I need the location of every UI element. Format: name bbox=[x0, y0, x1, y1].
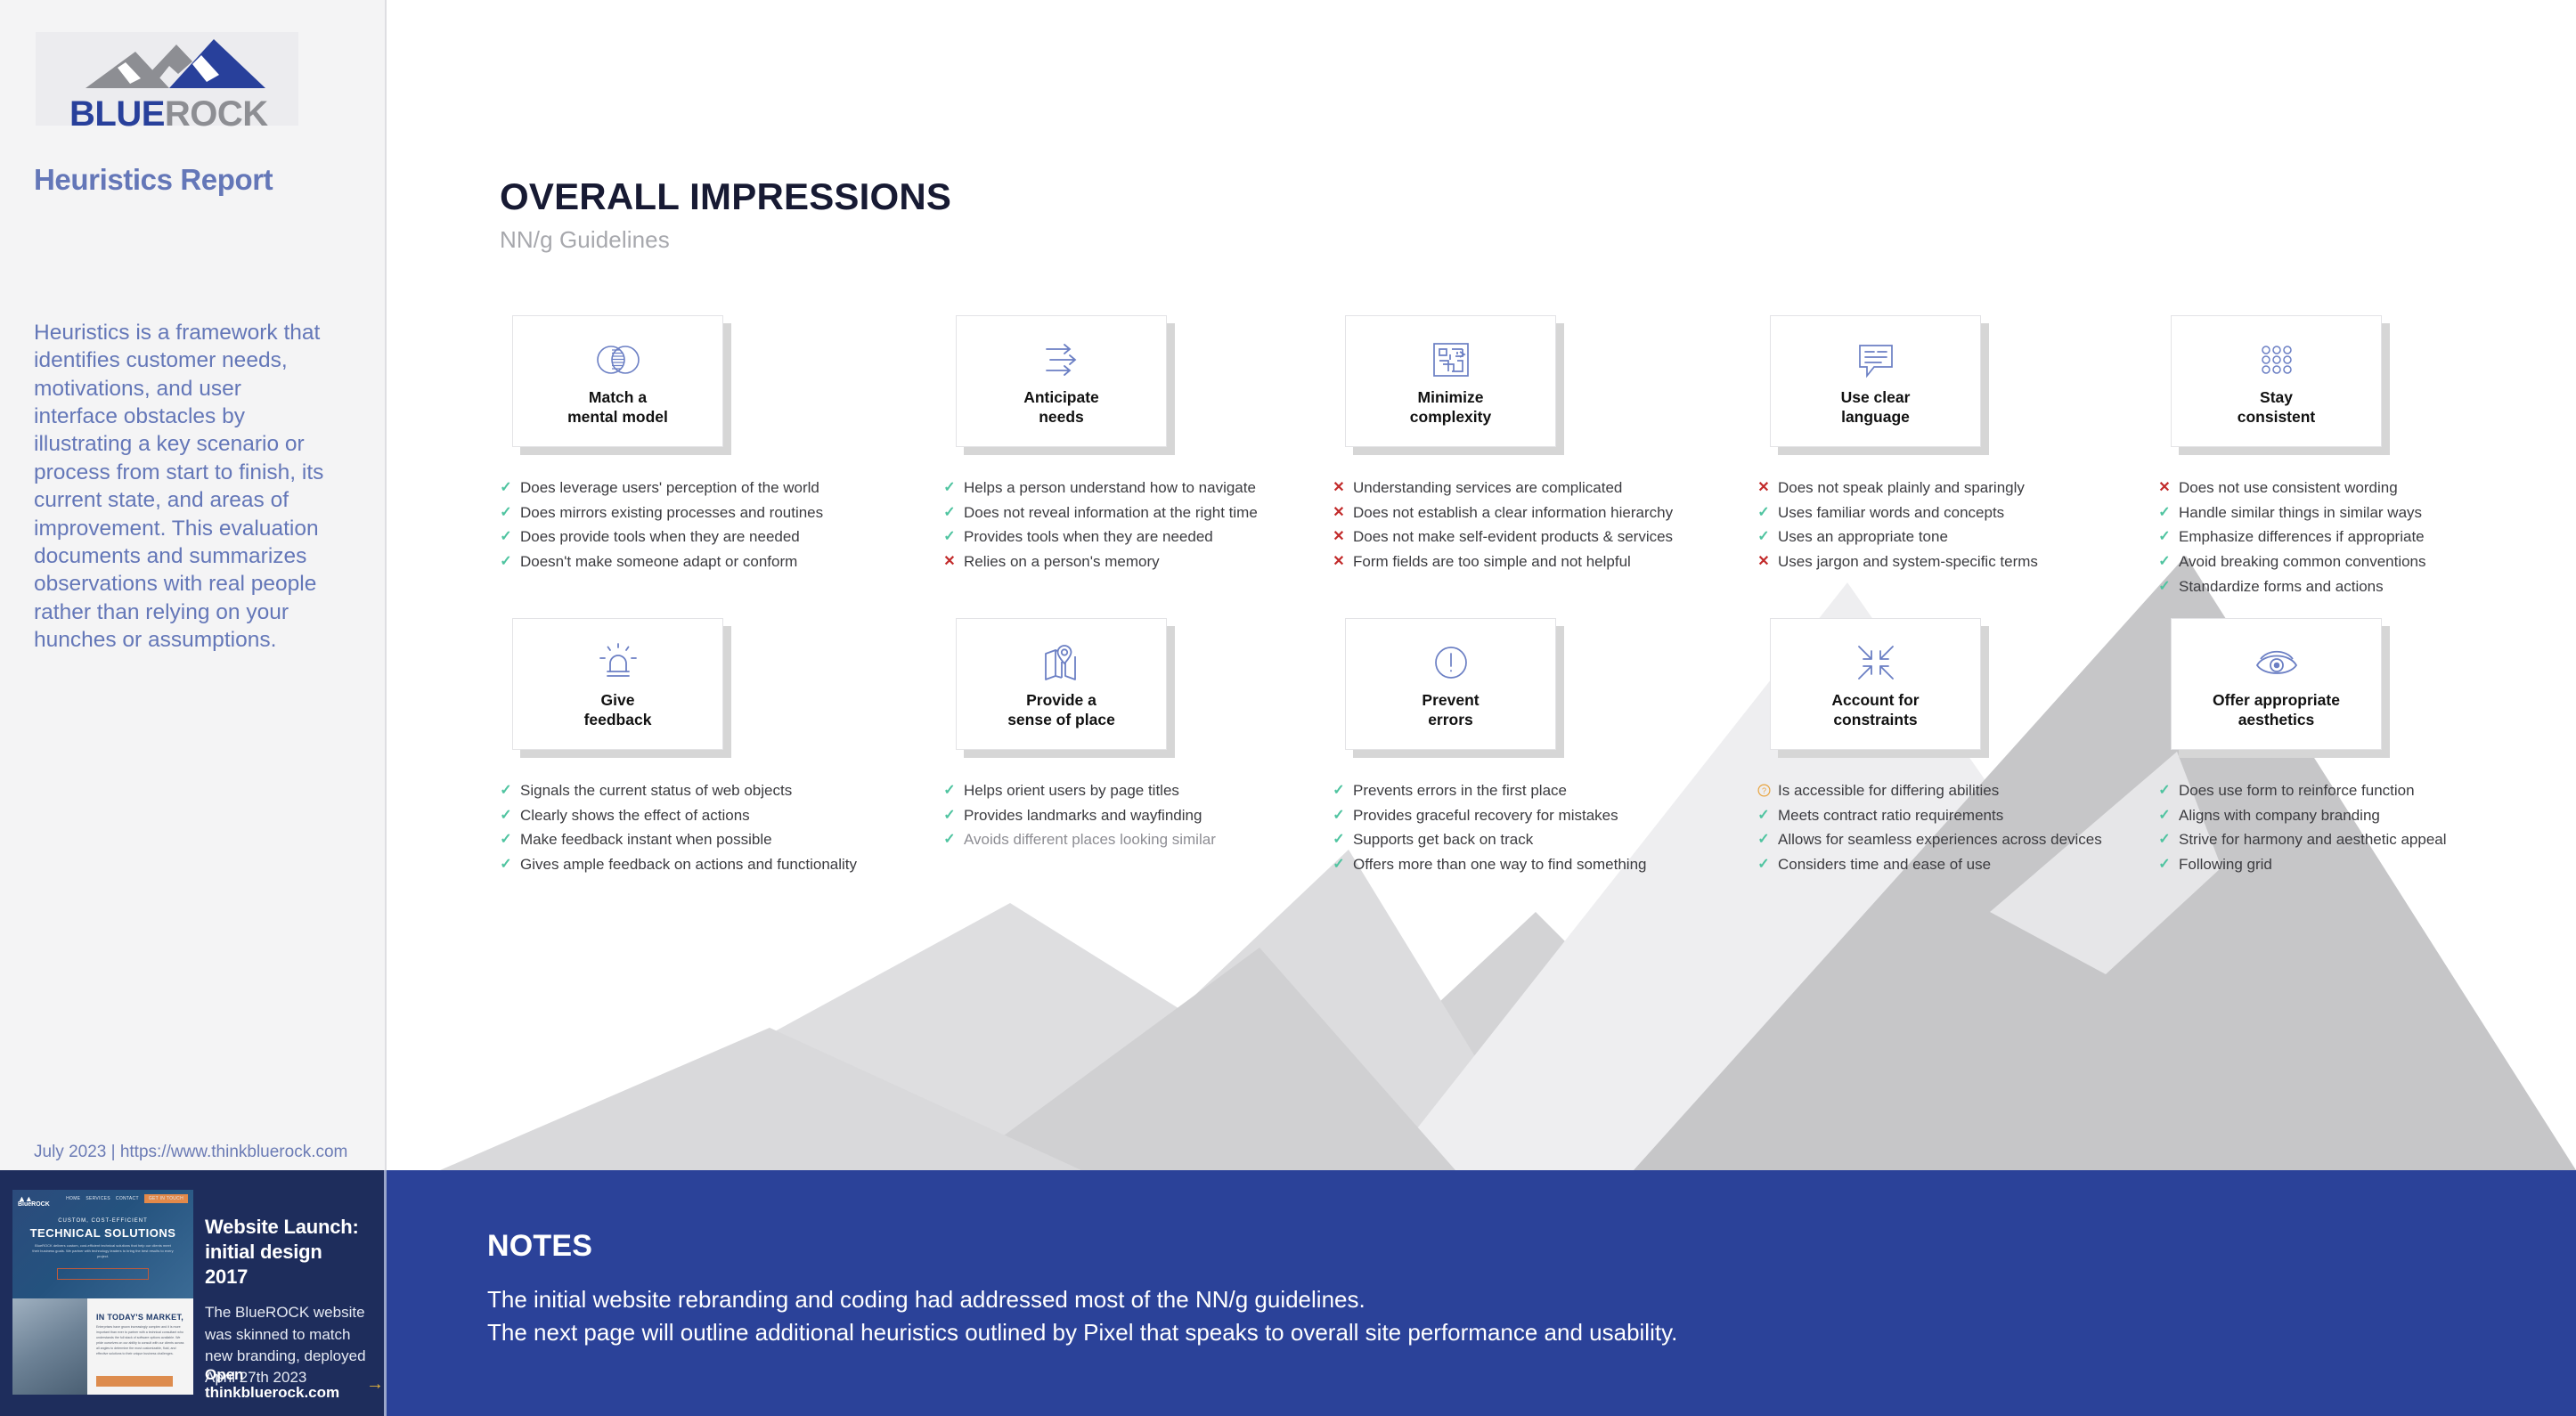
bullet-text: Allows for seamless experiences across d… bbox=[1778, 829, 2102, 851]
bullet-text: Helps orient users by page titles bbox=[964, 780, 1179, 802]
bullet-text: Does mirrors existing processes and rout… bbox=[520, 502, 823, 525]
check-icon: ✓ bbox=[943, 526, 956, 547]
card-bullet-list: ✕Does not use consistent wording✓Handle … bbox=[2158, 477, 2576, 600]
check-icon: ✓ bbox=[1757, 502, 1770, 523]
bullet-item: ✓Provides landmarks and wayfinding bbox=[943, 805, 1362, 827]
card-bullet-list: ✓Does use form to reinforce function✓Ali… bbox=[2158, 780, 2576, 879]
bullet-text: Avoid breaking common conventions bbox=[2179, 551, 2426, 574]
card-bullet-list: ✓Does leverage users' perception of the … bbox=[500, 477, 918, 576]
bullet-item: ✓Clearly shows the effect of actions bbox=[500, 805, 918, 827]
card-label: Minimizecomplexity bbox=[1410, 387, 1491, 427]
check-icon: ✓ bbox=[1333, 854, 1345, 875]
bullet-item: ✓Helps orient users by page titles bbox=[943, 780, 1362, 802]
heuristic-card-prevent-errors: Preventerrors✓Prevents errors in the fir… bbox=[1333, 618, 1742, 750]
bullet-text: Following grid bbox=[2179, 854, 2272, 876]
bullet-item: ✕Does not establish a clear information … bbox=[1333, 502, 1751, 525]
heuristic-card-provide-a-sense-of-place: Provide asense of place✓Helps orient use… bbox=[943, 618, 1353, 750]
check-icon: ✓ bbox=[500, 805, 512, 826]
callout-title: Website Launch:initial design 2017 bbox=[205, 1215, 370, 1290]
mountain-logo-icon bbox=[36, 32, 298, 94]
card-bullet-list: ✕Does not speak plainly and sparingly✓Us… bbox=[1757, 477, 2176, 576]
bullet-item: ✓Following grid bbox=[2158, 854, 2576, 876]
bullet-text: Standardize forms and actions bbox=[2179, 576, 2384, 598]
check-icon: ✓ bbox=[1333, 829, 1345, 850]
check-icon: ✓ bbox=[943, 477, 956, 498]
bullet-text: Provides graceful recovery for mistakes bbox=[1353, 805, 1618, 827]
website-screenshot-thumbnails: ▲▲BlueROCK HOME SERVICES CONTACT GET IN … bbox=[12, 1190, 193, 1395]
maze-icon bbox=[1431, 336, 1471, 384]
bullet-text: Clearly shows the effect of actions bbox=[520, 805, 750, 827]
bullet-item: ✓Provides tools when they are needed bbox=[943, 526, 1362, 549]
card-label: Provide asense of place bbox=[1007, 690, 1115, 730]
card-container[interactable]: Givefeedback bbox=[512, 618, 723, 750]
cross-icon: ✕ bbox=[1333, 526, 1345, 547]
bullet-text: Doesn't make someone adapt or conform bbox=[520, 551, 797, 574]
bullet-text: Uses jargon and system-specific terms bbox=[1778, 551, 2038, 574]
card-container[interactable]: Stayconsistent bbox=[2171, 315, 2382, 447]
bullet-item: ✕Does not make self-evident products & s… bbox=[1333, 526, 1751, 549]
check-icon: ✓ bbox=[500, 551, 512, 572]
bullet-item: ✓Does use form to reinforce function bbox=[2158, 780, 2576, 802]
three-arrows-icon bbox=[1041, 336, 1082, 384]
map-pin-icon bbox=[1040, 639, 1083, 687]
thumbnail-content-page: IN TODAY'S MARKET, Enterprises have grow… bbox=[12, 1298, 193, 1395]
card-container[interactable]: Use clearlanguage bbox=[1770, 315, 1981, 447]
heuristic-card-anticipate-needs: Anticipateneeds✓Helps a person understan… bbox=[943, 315, 1353, 447]
card-bullet-list: ✕Understanding services are complicated✕… bbox=[1333, 477, 1751, 576]
report-title: Heuristics Report bbox=[34, 163, 273, 197]
bullet-item: ✓Supports get back on track bbox=[1333, 829, 1751, 851]
check-icon: ✓ bbox=[2158, 551, 2171, 572]
bullet-item: ✓Gives ample feedback on actions and fun… bbox=[500, 854, 918, 876]
card-container[interactable]: Preventerrors bbox=[1345, 618, 1556, 750]
notes-line-2: The next page will outline additional he… bbox=[487, 1319, 1677, 1347]
bullet-item: ✕Relies on a person's memory bbox=[943, 551, 1362, 574]
heuristic-card-offer-appropriate-aesthetics: Offer appropriateaesthetics✓Does use for… bbox=[2158, 618, 2568, 750]
cross-icon: ✕ bbox=[1757, 551, 1770, 572]
check-icon: ✓ bbox=[500, 829, 512, 850]
open-website-link[interactable]: Open thinkbluerock.com → bbox=[205, 1366, 384, 1402]
card-face[interactable]: Provide asense of place bbox=[956, 618, 1167, 750]
thumb-hero-cta bbox=[57, 1268, 149, 1280]
check-icon: ✓ bbox=[943, 780, 956, 801]
page-subtitle: NN/g Guidelines bbox=[500, 226, 670, 254]
card-face[interactable]: Account forconstraints bbox=[1770, 618, 1981, 750]
bullet-text: Does not make self-evident products & se… bbox=[1353, 526, 1673, 549]
bullet-item: ✓Does leverage users' perception of the … bbox=[500, 477, 918, 500]
cross-icon: ✕ bbox=[1333, 551, 1345, 572]
card-face[interactable]: Stayconsistent bbox=[2171, 315, 2382, 447]
card-label: Use clearlanguage bbox=[1841, 387, 1911, 427]
check-icon: ✓ bbox=[500, 502, 512, 523]
card-bullet-list: ✓Signals the current status of web objec… bbox=[500, 780, 918, 879]
cross-icon: ✕ bbox=[1757, 477, 1770, 498]
thumb-nav-services: SERVICES bbox=[86, 1196, 110, 1201]
thumbnail-homepage-hero: ▲▲BlueROCK HOME SERVICES CONTACT GET IN … bbox=[12, 1190, 193, 1298]
arrow-right-icon: → bbox=[366, 1374, 384, 1395]
card-container[interactable]: Provide asense of place bbox=[956, 618, 1167, 750]
bullet-text: Understanding services are complicated bbox=[1353, 477, 1622, 500]
thumb-logo: ▲▲BlueROCK bbox=[18, 1196, 50, 1208]
card-face[interactable]: Preventerrors bbox=[1345, 618, 1556, 750]
eye-icon bbox=[2254, 639, 2300, 687]
thumb-paragraph: BlueROCK delivers custom, cost-efficient… bbox=[32, 1243, 174, 1259]
check-icon: ✓ bbox=[943, 502, 956, 523]
heuristic-card-give-feedback: Givefeedback✓Signals the current status … bbox=[500, 618, 909, 750]
check-icon: ✓ bbox=[500, 477, 512, 498]
sidebar-footer-meta: July 2023 | https://www.thinkbluerock.co… bbox=[34, 1143, 347, 1162]
check-icon: ✓ bbox=[1757, 854, 1770, 875]
bullet-item: ✕Form fields are too simple and not help… bbox=[1333, 551, 1751, 574]
card-container[interactable]: Minimizecomplexity bbox=[1345, 315, 1556, 447]
bullet-text: Does not reveal information at the right… bbox=[964, 502, 1258, 525]
bullet-item: ✓Aligns with company branding bbox=[2158, 805, 2576, 827]
heuristic-card-stay-consistent: Stayconsistent✕Does not use consistent w… bbox=[2158, 315, 2568, 447]
bullet-item: ✕Does not speak plainly and sparingly bbox=[1757, 477, 2176, 500]
bullet-text: Provides landmarks and wayfinding bbox=[964, 805, 1202, 827]
check-icon: ✓ bbox=[943, 829, 956, 850]
check-icon: ✓ bbox=[500, 526, 512, 547]
check-icon: ✓ bbox=[500, 854, 512, 875]
heuristic-card-account-for-constraints: Account forconstraints?Is accessible for… bbox=[1757, 618, 2167, 750]
notes-section: NOTES The initial website rebranding and… bbox=[387, 1170, 2576, 1416]
bullet-item: ✕Does not use consistent wording bbox=[2158, 477, 2576, 500]
bullet-text: Gives ample feedback on actions and func… bbox=[520, 854, 857, 876]
check-icon: ✓ bbox=[2158, 780, 2171, 801]
bullet-text: Avoids different places looking similar bbox=[964, 829, 1216, 851]
card-bullet-list: ✓Prevents errors in the first place✓Prov… bbox=[1333, 780, 1751, 879]
cross-icon: ✕ bbox=[943, 551, 956, 572]
thumb-nav: HOME SERVICES CONTACT GET IN TOUCH bbox=[66, 1194, 188, 1203]
page-title: OVERALL IMPRESSIONS bbox=[500, 175, 951, 218]
thumb-bottom-cta bbox=[96, 1376, 173, 1387]
bullet-item: ✕Understanding services are complicated bbox=[1333, 477, 1751, 500]
bullet-item: ✓Emphasize differences if appropriate bbox=[2158, 526, 2576, 549]
bullet-text: Does provide tools when they are needed bbox=[520, 526, 800, 549]
bullet-item: ✓Does not reveal information at the righ… bbox=[943, 502, 1362, 525]
check-icon: ✓ bbox=[2158, 502, 2171, 523]
bullet-text: Signals the current status of web object… bbox=[520, 780, 792, 802]
check-icon: ✓ bbox=[1757, 805, 1770, 826]
thumb-bottom-headline: IN TODAY'S MARKET, bbox=[96, 1313, 183, 1322]
card-face[interactable]: Match amental model bbox=[512, 315, 723, 447]
bullet-item: ✓Does provide tools when they are needed bbox=[500, 526, 918, 549]
bullet-text: Prevents errors in the first place bbox=[1353, 780, 1567, 802]
bullet-item: ✓Make feedback instant when possible bbox=[500, 829, 918, 851]
check-icon: ✓ bbox=[1333, 805, 1345, 826]
bullet-item: ✓Strive for harmony and aesthetic appeal bbox=[2158, 829, 2576, 851]
bullet-text: Strive for harmony and aesthetic appeal bbox=[2179, 829, 2447, 851]
bullet-item: ✓Helps a person understand how to naviga… bbox=[943, 477, 1362, 500]
check-icon: ✓ bbox=[2158, 854, 2171, 875]
cross-icon: ✕ bbox=[2158, 477, 2171, 498]
bullet-text: Considers time and ease of use bbox=[1778, 854, 1991, 876]
card-face[interactable]: Offer appropriateaesthetics bbox=[2171, 618, 2382, 750]
thumb-nav-cta: GET IN TOUCH bbox=[144, 1194, 188, 1203]
check-icon: ✓ bbox=[943, 805, 956, 826]
notes-line-1: The initial website rebranding and codin… bbox=[487, 1286, 1365, 1314]
card-container[interactable]: Match amental model bbox=[512, 315, 723, 447]
bullet-text: Offers more than one way to find somethi… bbox=[1353, 854, 1646, 876]
collapse-arrows-icon bbox=[1855, 639, 1897, 687]
card-label: Match amental model bbox=[567, 387, 668, 427]
card-label: Anticipateneeds bbox=[1023, 387, 1099, 427]
cross-icon: ✕ bbox=[1333, 502, 1345, 523]
bullet-text: Helps a person understand how to navigat… bbox=[964, 477, 1256, 500]
bullet-item: ✓Does mirrors existing processes and rou… bbox=[500, 502, 918, 525]
bullet-text: Is accessible for differing abilities bbox=[1778, 780, 1999, 802]
bullet-item: ✓Handle similar things in similar ways bbox=[2158, 502, 2576, 525]
bullet-text: Form fields are too simple and not helpf… bbox=[1353, 551, 1631, 574]
bullet-item: ✓Uses an appropriate tone bbox=[1757, 526, 2176, 549]
callout-text-block: Website Launch:initial design 2017 The B… bbox=[205, 1215, 370, 1388]
svg-text:?: ? bbox=[1762, 786, 1766, 795]
check-icon: ✓ bbox=[500, 780, 512, 801]
card-bullet-list: ✓Helps a person understand how to naviga… bbox=[943, 477, 1362, 576]
main-content: OVERALL IMPRESSIONS NN/g Guidelines Matc… bbox=[387, 0, 2576, 1170]
exclamation-circle-icon bbox=[1431, 639, 1471, 687]
check-icon: ✓ bbox=[2158, 829, 2171, 850]
heuristic-card-match-a-mental-model: Match amental model✓Does leverage users'… bbox=[500, 315, 909, 447]
card-label: Offer appropriateaesthetics bbox=[2213, 690, 2340, 730]
bullet-text: Provides tools when they are needed bbox=[964, 526, 1213, 549]
bullet-item: ✓Doesn't make someone adapt or conform bbox=[500, 551, 918, 574]
heuristic-card-minimize-complexity: Minimizecomplexity✕Understanding service… bbox=[1333, 315, 1742, 447]
check-icon: ✓ bbox=[2158, 576, 2171, 597]
open-website-link-label: Open thinkbluerock.com bbox=[205, 1366, 354, 1402]
card-container[interactable]: Offer appropriateaesthetics bbox=[2171, 618, 2382, 750]
check-icon: ✓ bbox=[2158, 526, 2171, 547]
card-label: Account forconstraints bbox=[1831, 690, 1919, 730]
check-icon: ✓ bbox=[1757, 829, 1770, 850]
brand-logo: BLUEROCK bbox=[36, 32, 298, 126]
bullet-text: Does leverage users' perception of the w… bbox=[520, 477, 819, 500]
bullet-text: Relies on a person's memory bbox=[964, 551, 1160, 574]
sidebar-intro-paragraph: Heuristics is a framework that identifie… bbox=[34, 319, 328, 654]
thumb-photo bbox=[12, 1298, 87, 1395]
siren-light-icon bbox=[597, 639, 640, 687]
bullet-text: Does use form to reinforce function bbox=[2179, 780, 2415, 802]
bullet-item: ✓Allows for seamless experiences across … bbox=[1757, 829, 2176, 851]
thumb-eyebrow: CUSTOM, COST-EFFICIENT bbox=[12, 1218, 193, 1224]
brand-wordmark: BLUEROCK bbox=[69, 94, 268, 134]
bullet-item: ✓Uses familiar words and concepts bbox=[1757, 502, 2176, 525]
bullet-text: Uses an appropriate tone bbox=[1778, 526, 1948, 549]
thumb-headline: TECHNICAL SOLUTIONS bbox=[12, 1226, 193, 1240]
slide-page: BLUEROCK Heuristics Report Heuristics is… bbox=[0, 0, 2576, 1416]
sidebar: BLUEROCK Heuristics Report Heuristics is… bbox=[0, 0, 387, 1170]
thumb-bottom-paragraph: Enterprises have grown increasingly comp… bbox=[96, 1325, 186, 1357]
card-container[interactable]: Account forconstraints bbox=[1770, 618, 1981, 750]
thumb-nav-contact: CONTACT bbox=[116, 1196, 139, 1201]
bullet-item: ✓Prevents errors in the first place bbox=[1333, 780, 1751, 802]
bullet-item: ✓Meets contract ratio requirements bbox=[1757, 805, 2176, 827]
bullet-text: Make feedback instant when possible bbox=[520, 829, 772, 851]
notes-title: NOTES bbox=[487, 1229, 592, 1264]
website-launch-callout: ▲▲BlueROCK HOME SERVICES CONTACT GET IN … bbox=[0, 1170, 387, 1416]
bullet-item: ✓Avoids different places looking similar bbox=[943, 829, 1362, 851]
bullet-item: ✓Avoid breaking common conventions bbox=[2158, 551, 2576, 574]
bullet-text: Does not use consistent wording bbox=[2179, 477, 2398, 500]
bullet-item: ✓Offers more than one way to find someth… bbox=[1333, 854, 1751, 876]
card-bullet-list: ?Is accessible for differing abilities✓M… bbox=[1757, 780, 2176, 879]
bullet-item: ?Is accessible for differing abilities bbox=[1757, 780, 2176, 802]
check-icon: ✓ bbox=[1333, 780, 1345, 801]
check-icon: ✓ bbox=[2158, 805, 2171, 826]
bullet-text: Aligns with company branding bbox=[2179, 805, 2380, 827]
card-container[interactable]: Anticipateneeds bbox=[956, 315, 1167, 447]
question-circle-icon: ? bbox=[1757, 780, 1770, 802]
bullet-item: ✓Provides graceful recovery for mistakes bbox=[1333, 805, 1751, 827]
card-face[interactable]: Minimizecomplexity bbox=[1345, 315, 1556, 447]
brand-word-secondary: ROCK bbox=[165, 94, 268, 134]
bullet-item: ✓Standardize forms and actions bbox=[2158, 576, 2576, 598]
thumb-nav-home: HOME bbox=[66, 1196, 80, 1201]
bullet-text: Uses familiar words and concepts bbox=[1778, 502, 2004, 525]
bullet-item: ✓Signals the current status of web objec… bbox=[500, 780, 918, 802]
card-face[interactable]: Use clearlanguage bbox=[1770, 315, 1981, 447]
heuristic-card-use-clear-language: Use clearlanguage✕Does not speak plainly… bbox=[1757, 315, 2167, 447]
card-bullet-list: ✓Helps orient users by page titles✓Provi… bbox=[943, 780, 1362, 854]
check-icon: ✓ bbox=[1757, 526, 1770, 547]
bullet-text: Handle similar things in similar ways bbox=[2179, 502, 2422, 525]
bullet-text: Does not establish a clear information h… bbox=[1353, 502, 1673, 525]
card-face[interactable]: Anticipateneeds bbox=[956, 315, 1167, 447]
bullet-item: ✓Considers time and ease of use bbox=[1757, 854, 2176, 876]
bullet-text: Emphasize differences if appropriate bbox=[2179, 526, 2425, 549]
venn-diagram-icon bbox=[595, 336, 641, 384]
card-label: Preventerrors bbox=[1422, 690, 1479, 730]
card-label: Givefeedback bbox=[584, 690, 652, 730]
brand-word-primary: BLUE bbox=[69, 94, 165, 134]
bullet-text: Does not speak plainly and sparingly bbox=[1778, 477, 2025, 500]
bullet-text: Supports get back on track bbox=[1353, 829, 1533, 851]
speech-bubble-icon bbox=[1855, 336, 1897, 384]
dot-grid-icon bbox=[2255, 336, 2298, 384]
card-face[interactable]: Givefeedback bbox=[512, 618, 723, 750]
cross-icon: ✕ bbox=[1333, 477, 1345, 498]
bullet-text: Meets contract ratio requirements bbox=[1778, 805, 2003, 827]
bullet-item: ✕Uses jargon and system-specific terms bbox=[1757, 551, 2176, 574]
card-label: Stayconsistent bbox=[2238, 387, 2316, 427]
